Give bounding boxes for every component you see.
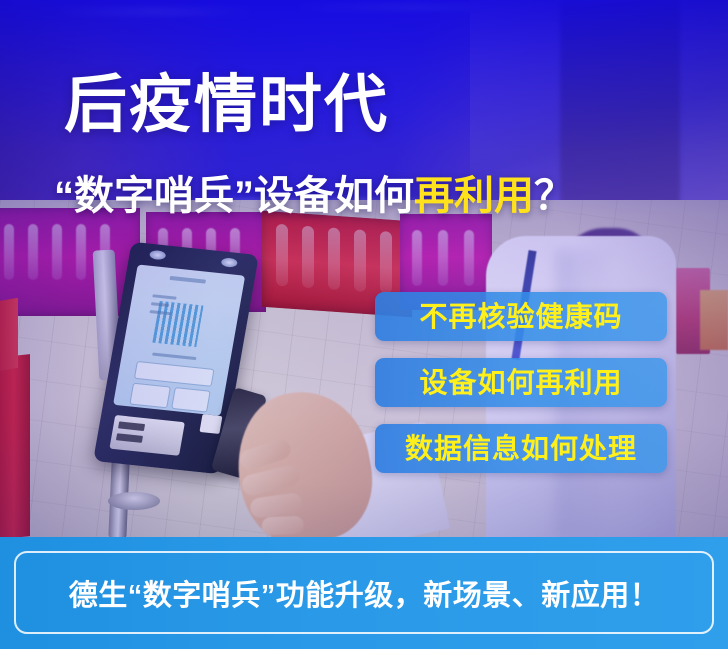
subtitle-prefix: “数字哨兵”设备如何 xyxy=(54,174,414,218)
callout-pill-3[interactable]: 数据信息如何处理 xyxy=(375,424,667,473)
callout-pill-1-label: 不再核验健康码 xyxy=(419,303,622,331)
poster-root: 后疫情时代 “数字哨兵”设备如何再利用？ 不再核验健康码 设备如何再利用 数据信… xyxy=(0,0,728,649)
kiosk-indicator xyxy=(199,414,222,434)
callout-pill-2-label: 设备如何再利用 xyxy=(419,369,622,397)
ceiling-light xyxy=(60,6,250,16)
photo-wall-poster xyxy=(700,290,728,350)
subtitle-question-mark: ？ xyxy=(534,174,574,218)
bottom-banner-text: 德生“数字哨兵”功能升级，新场景、新应用！ xyxy=(69,572,660,614)
photo-barrier-red xyxy=(0,354,30,537)
photo-fence-panel xyxy=(0,208,140,316)
bottom-banner-frame: 德生“数字哨兵”功能升级，新场景、新应用！ xyxy=(14,551,714,634)
callout-pill-1[interactable]: 不再核验健康码 xyxy=(375,292,667,341)
page-title: 后疫情时代 xyxy=(64,74,389,137)
kiosk-card-reader xyxy=(109,415,185,456)
subtitle-highlight: 再利用 xyxy=(414,174,534,218)
callout-pill-3-label: 数据信息如何处理 xyxy=(405,435,637,463)
callout-pill-2[interactable]: 设备如何再利用 xyxy=(375,358,667,407)
qr-code-icon xyxy=(152,301,203,347)
page-subtitle: “数字哨兵”设备如何再利用？ xyxy=(54,176,574,216)
photo-barrier-red xyxy=(0,298,18,373)
kiosk-base xyxy=(108,492,160,510)
